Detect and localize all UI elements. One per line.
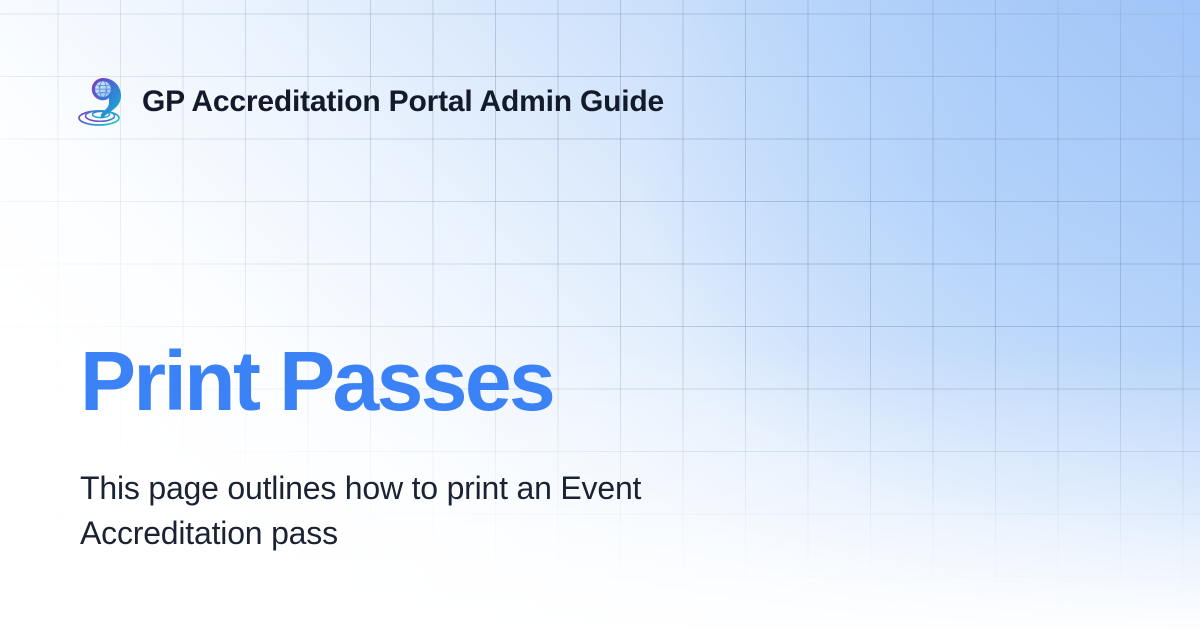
- page-subtitle: This page outlines how to print an Event…: [80, 466, 780, 557]
- brand-row: GP Accreditation Portal Admin Guide: [76, 76, 664, 128]
- hero-banner: GP Accreditation Portal Admin Guide Prin…: [0, 0, 1200, 630]
- map-pin-globe-logo-svg: [76, 76, 124, 128]
- hero-content: GP Accreditation Portal Admin Guide Prin…: [0, 0, 1200, 630]
- map-pin-globe-logo-icon: [76, 76, 124, 128]
- logo-swirl-mid: [86, 111, 115, 122]
- page-title: Print Passes: [80, 339, 553, 423]
- brand-title: GP Accreditation Portal Admin Guide: [142, 87, 664, 117]
